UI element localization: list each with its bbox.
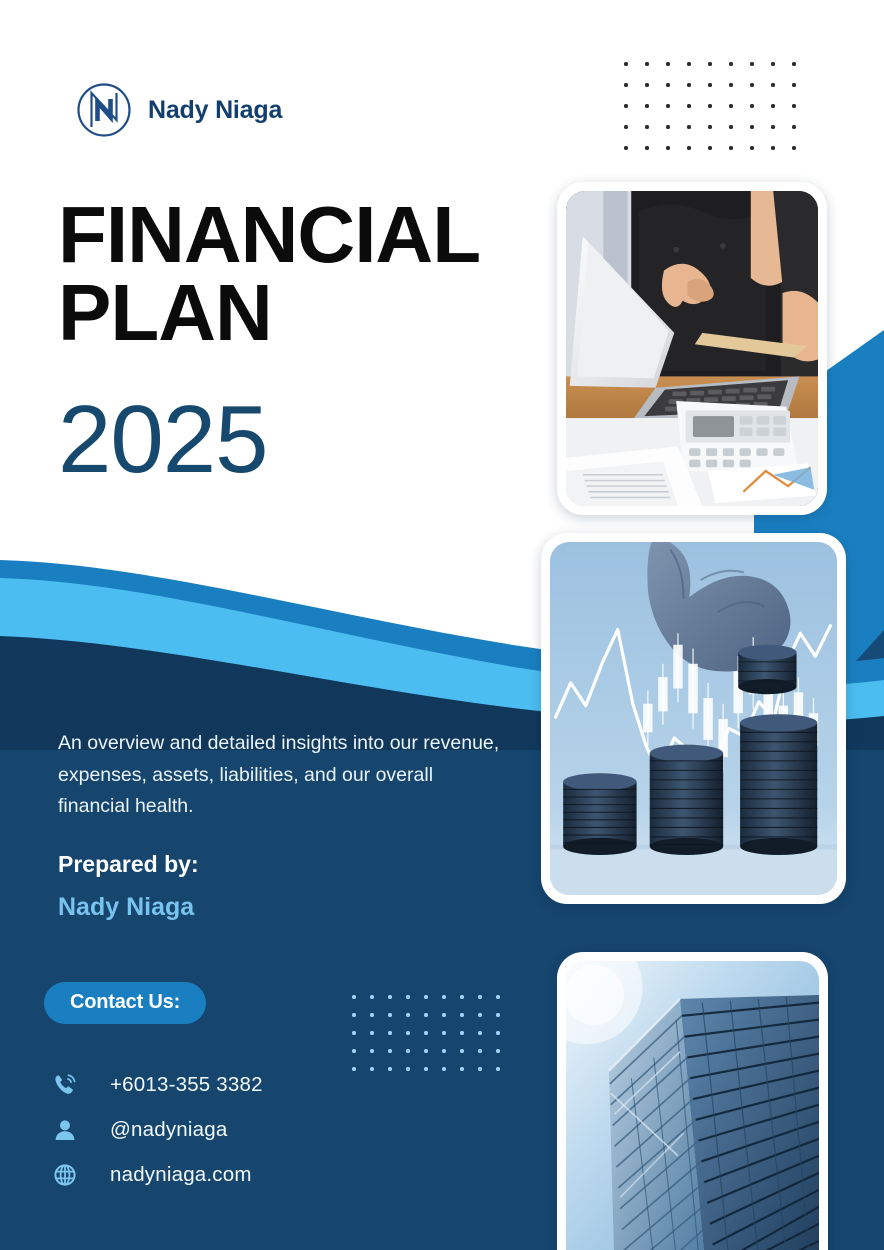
dot: [370, 1013, 374, 1017]
dot: [624, 83, 628, 87]
dot: [624, 146, 628, 150]
dot: [424, 1067, 428, 1071]
dot: [370, 1067, 374, 1071]
dot: [708, 125, 712, 129]
dot: [406, 1031, 410, 1035]
contact-website-value: nadyniaga.com: [110, 1163, 252, 1187]
dot: [406, 995, 410, 999]
phone-icon: [52, 1072, 94, 1098]
dot: [687, 146, 691, 150]
dot: [771, 83, 775, 87]
dot: [496, 1067, 500, 1071]
person-icon: [52, 1117, 94, 1143]
globe-icon: [52, 1162, 94, 1188]
prepared-by-label: Prepared by:: [58, 851, 199, 878]
description-text: An overview and detailed insights into o…: [58, 728, 503, 823]
dot: [352, 1013, 356, 1017]
dot: [406, 1049, 410, 1053]
dot: [729, 125, 733, 129]
dot: [729, 146, 733, 150]
dot: [687, 104, 691, 108]
dot: [478, 1013, 482, 1017]
contact-item-website[interactable]: nadyniaga.com: [52, 1152, 263, 1197]
dot: [406, 1067, 410, 1071]
dot: [750, 83, 754, 87]
brand-name: Nady Niaga: [148, 96, 282, 125]
dot: [442, 1067, 446, 1071]
dot: [442, 1031, 446, 1035]
dot: [750, 62, 754, 66]
prepared-by-name: Nady Niaga: [58, 893, 194, 922]
contact-phone-value: +6013-355 3382: [110, 1073, 263, 1097]
dot-grid-bottom-left: [352, 995, 514, 1085]
dot: [442, 1013, 446, 1017]
dot: [496, 1049, 500, 1053]
dot: [687, 83, 691, 87]
dot: [687, 62, 691, 66]
dot: [460, 995, 464, 999]
dot: [750, 146, 754, 150]
dot: [496, 1031, 500, 1035]
coin-stacks-chart-photo: [541, 533, 846, 904]
dot: [388, 995, 392, 999]
dot: [624, 104, 628, 108]
dot: [708, 83, 712, 87]
dot: [352, 1067, 356, 1071]
contact-us-badge[interactable]: Contact Us:: [44, 982, 206, 1024]
dot: [750, 104, 754, 108]
dot: [792, 125, 796, 129]
dot: [708, 104, 712, 108]
dot: [792, 83, 796, 87]
dot: [792, 146, 796, 150]
dot: [370, 995, 374, 999]
title-year: 2025: [58, 392, 268, 488]
dot: [666, 62, 670, 66]
dot: [388, 1013, 392, 1017]
circle-n-monogram-icon: [74, 80, 134, 140]
dot: [424, 1031, 428, 1035]
dot: [442, 995, 446, 999]
dot: [645, 146, 649, 150]
financial-plan-poster: Nady Niaga FINANCIAL PLAN 2025 An overvi…: [0, 0, 884, 1250]
contact-item-phone[interactable]: +6013-355 3382: [52, 1062, 263, 1107]
dot: [370, 1049, 374, 1053]
dot: [388, 1067, 392, 1071]
dot: [352, 1049, 356, 1053]
dot: [460, 1013, 464, 1017]
brand-logo[interactable]: Nady Niaga: [74, 80, 282, 140]
dot: [750, 125, 754, 129]
title-line-1: FINANCIAL: [58, 190, 480, 279]
dot: [792, 62, 796, 66]
dot: [645, 62, 649, 66]
dot: [771, 146, 775, 150]
dot: [666, 146, 670, 150]
dot: [666, 104, 670, 108]
dot: [771, 125, 775, 129]
dot: [424, 1049, 428, 1053]
business-meeting-laptop-photo: [557, 182, 827, 515]
dot: [460, 1049, 464, 1053]
dot: [729, 83, 733, 87]
dot: [370, 1031, 374, 1035]
dot: [460, 1067, 464, 1071]
dot: [729, 104, 733, 108]
title-line-2: PLAN: [58, 274, 480, 352]
dot: [388, 1049, 392, 1053]
dot: [624, 125, 628, 129]
dot: [645, 125, 649, 129]
dot: [645, 83, 649, 87]
dot: [460, 1031, 464, 1035]
dot: [478, 1067, 482, 1071]
dot: [708, 62, 712, 66]
dot: [687, 125, 691, 129]
dot: [424, 995, 428, 999]
dot: [708, 146, 712, 150]
glass-skyscraper-photo: [557, 952, 828, 1250]
dot: [624, 62, 628, 66]
dot: [771, 104, 775, 108]
dot: [478, 1031, 482, 1035]
dot: [406, 1013, 410, 1017]
dot: [478, 1049, 482, 1053]
dot-grid-top-right: [624, 62, 813, 167]
dot: [424, 1013, 428, 1017]
dot: [352, 995, 356, 999]
contact-item-social[interactable]: @nadyniaga: [52, 1107, 263, 1152]
dot: [666, 83, 670, 87]
dot: [352, 1031, 356, 1035]
dot: [388, 1031, 392, 1035]
dot: [771, 62, 775, 66]
page-title: FINANCIAL PLAN: [58, 196, 480, 351]
contact-social-value: @nadyniaga: [110, 1118, 227, 1142]
dot: [792, 104, 796, 108]
dot: [496, 1013, 500, 1017]
contact-list: +6013-355 3382 @nadyniaga nadyniaga.com: [52, 1062, 263, 1197]
dot: [478, 995, 482, 999]
dot: [442, 1049, 446, 1053]
dot: [666, 125, 670, 129]
dot: [645, 104, 649, 108]
dot: [729, 62, 733, 66]
dot: [496, 995, 500, 999]
